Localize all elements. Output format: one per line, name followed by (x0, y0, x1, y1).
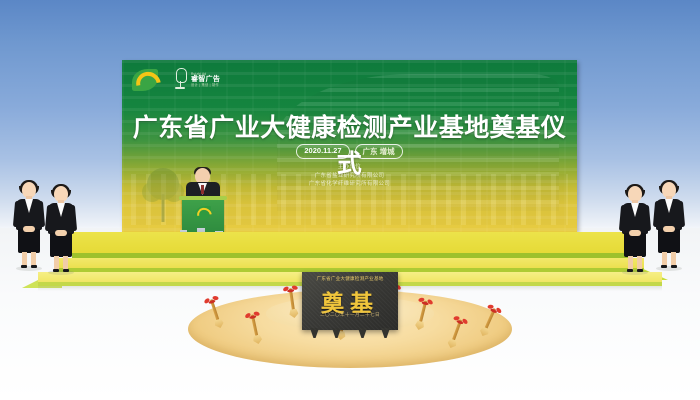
hostess-legs (54, 256, 68, 270)
golden-shovel (478, 307, 498, 338)
stone-legs (302, 328, 398, 338)
hostess-shoes (661, 265, 677, 268)
speaker-tie (201, 185, 204, 194)
hostess-skirt (18, 229, 40, 253)
red-ribbon-bow (282, 284, 298, 296)
hostess-legs (22, 252, 36, 266)
stage-tier-2 (56, 258, 644, 272)
hostess-right-1 (620, 186, 650, 272)
hostess-skirt (50, 233, 72, 257)
stone-project-name: 广东省广业大健康检测产业基地 (304, 276, 396, 282)
red-ribbon-bow (244, 310, 261, 323)
hostess-right-2 (654, 182, 684, 268)
speaker-at-podium (182, 168, 224, 234)
hostess-shoes (21, 265, 37, 268)
red-ribbon-bow (417, 296, 434, 309)
podium-leaf-icon (195, 206, 211, 220)
hostess-legs (662, 252, 676, 266)
hostess-skirt (624, 233, 646, 257)
podium-top-rail (179, 196, 227, 200)
golden-shovel (248, 314, 263, 345)
hostess-shoes (627, 269, 643, 272)
guangye-leaf-icon (132, 69, 158, 91)
ruizhi-logo: Ruizhi Ad 睿智广告 设计 | 策划 | 制作 (174, 68, 220, 92)
golden-shovel (446, 318, 465, 349)
banner-date-row: 2020.11.27 广东 增城 (122, 144, 577, 159)
event-date-badge: 2020.11.27 (296, 144, 349, 159)
ruizhi-chinese-label: 睿智广告 (191, 76, 220, 83)
hostess-hands (23, 226, 35, 232)
ruizhi-tagline: 设计 | 策划 | 制作 (191, 84, 220, 87)
foundation-stone: 广东省广业大健康检测产业基地 奠基 二〇二〇年十一月二十七日 (302, 272, 398, 330)
hostess-shoes (53, 269, 69, 272)
hostess-left-2 (46, 186, 76, 272)
hostess-skirt (658, 229, 680, 253)
hostess-hands (629, 230, 641, 236)
stage-tier-1 (72, 232, 628, 258)
ceremony-scene: Ruizhi Ad 睿智广告 设计 | 策划 | 制作 广东省广业大健康检测产业… (0, 0, 700, 400)
banner-logo-row: Ruizhi Ad 睿智广告 设计 | 策划 | 制作 (132, 68, 220, 92)
hostess-legs (628, 256, 642, 270)
hostess-hands (663, 226, 675, 232)
stone-date-text: 二〇二〇年十一月二十七日 (302, 312, 398, 318)
hostess-hands (55, 230, 67, 236)
microphone-icon (174, 68, 187, 92)
event-place-badge: 广东 增城 (355, 144, 403, 159)
hostess-left-1 (14, 182, 44, 268)
red-ribbon-bow (451, 314, 469, 329)
